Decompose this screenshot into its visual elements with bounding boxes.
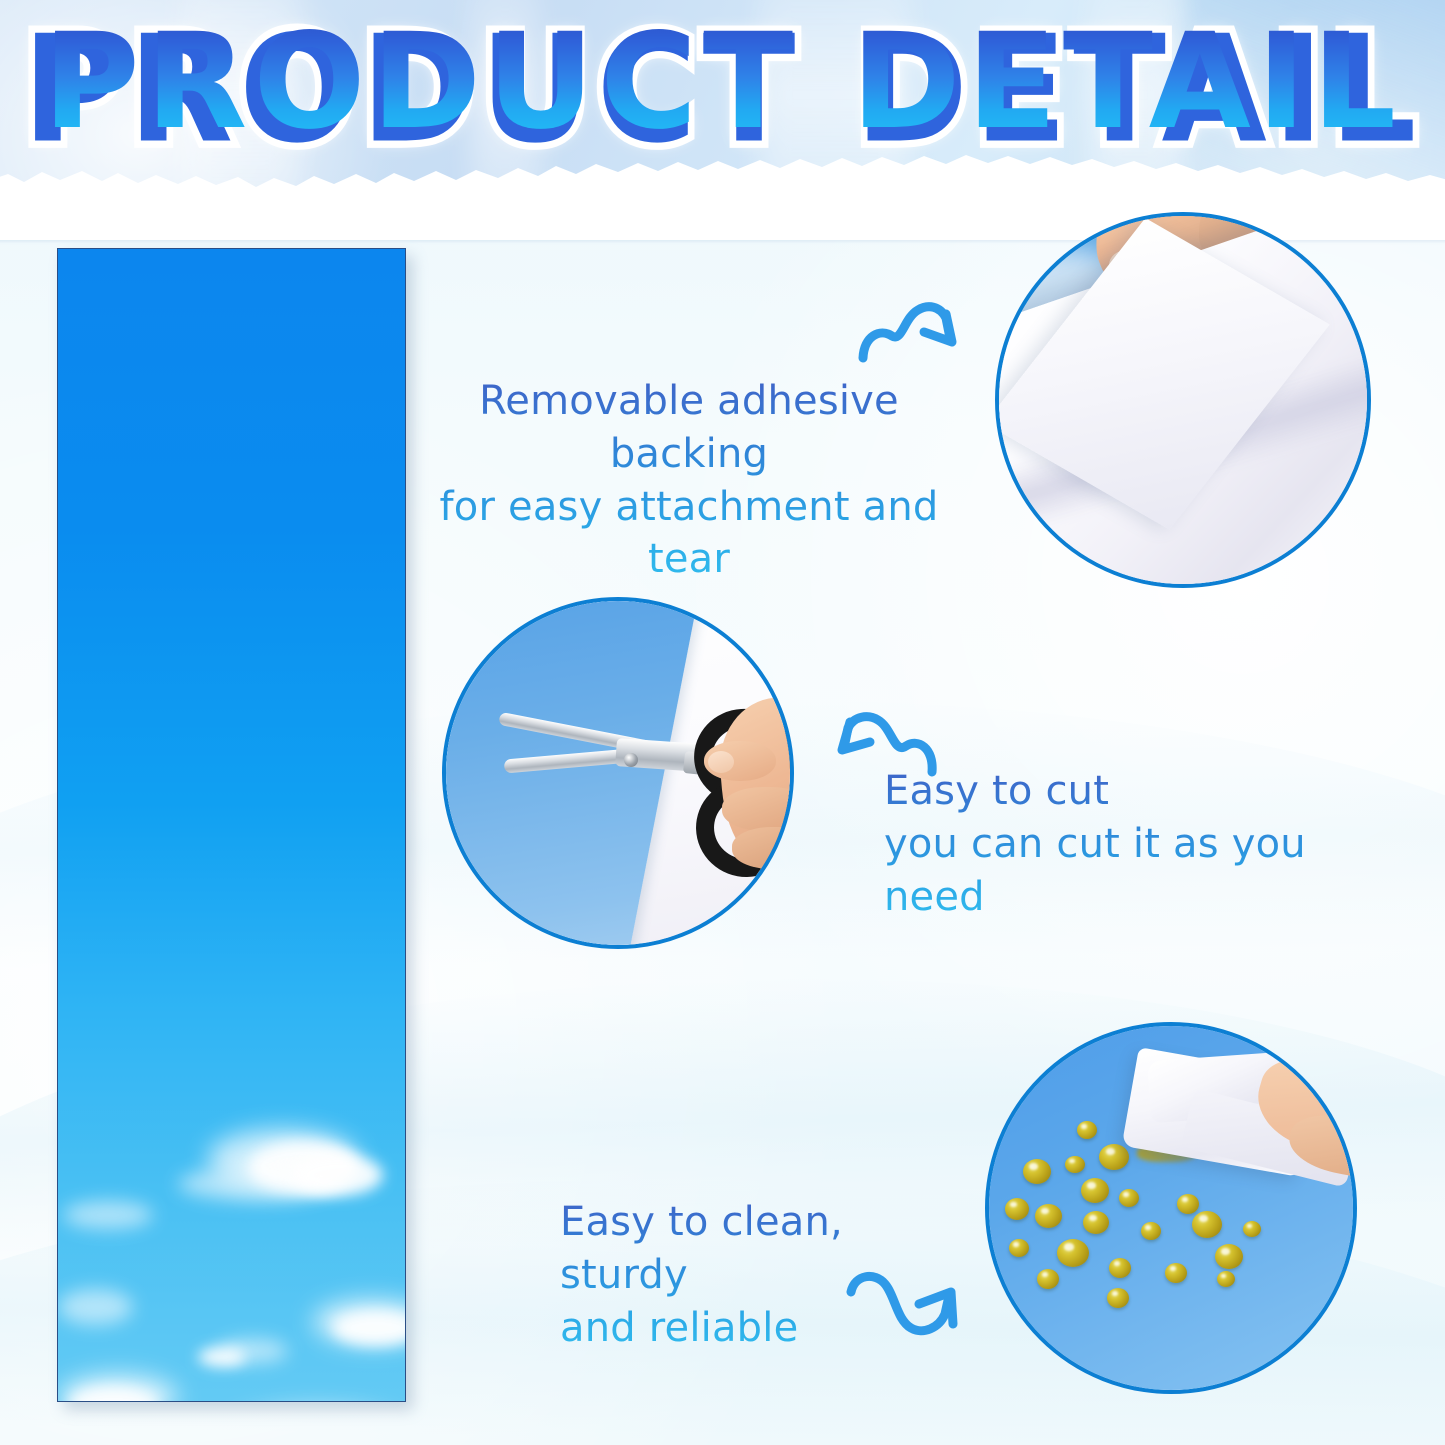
finger: [722, 787, 794, 831]
fingernail: [708, 751, 734, 773]
curved-arrow-down-right-icon: [858, 292, 968, 372]
feature-image-easy-to-clean: [985, 1022, 1357, 1394]
curved-arrow-left-icon: [824, 698, 939, 783]
feature-text-removable-adhesive: Removable adhesive backing for easy atta…: [424, 375, 954, 586]
product-detail-infographic: PRODUCT DETAIL PRODUCT DETAIL: [0, 0, 1445, 1445]
feature-image-removable-adhesive: [995, 212, 1371, 588]
page-title: PRODUCT DETAIL: [23, 14, 1423, 168]
curved-arrow-up-right-icon: [845, 1258, 965, 1348]
feature-image-easy-to-cut: [442, 597, 794, 949]
page-title-wrapper: PRODUCT DETAIL PRODUCT DETAIL: [0, 14, 1445, 151]
scissors-screw: [624, 753, 638, 767]
feature-text-easy-to-cut: Easy to cut you can cut it as you need: [884, 765, 1354, 923]
product-strip-image: [57, 248, 406, 1402]
